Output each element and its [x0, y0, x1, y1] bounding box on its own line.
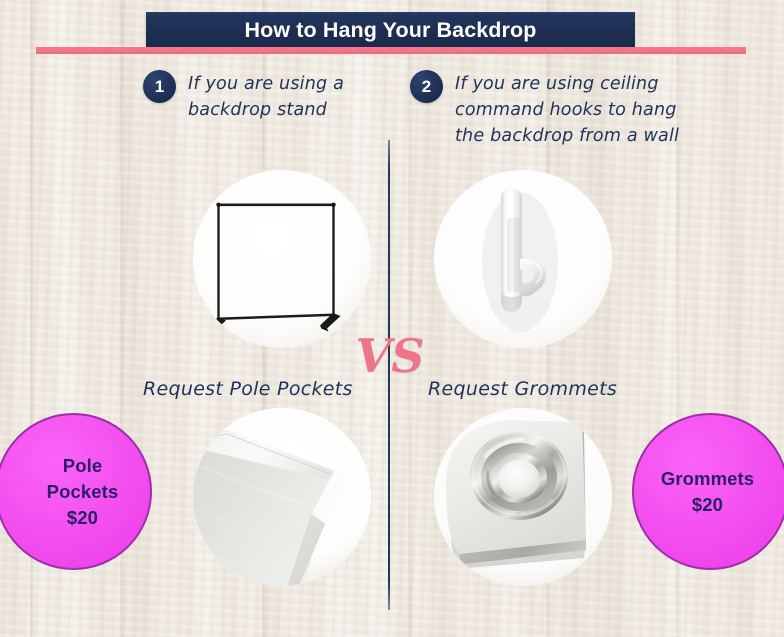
grommet-photo [434, 408, 612, 586]
step-1-heading: 1 If you are using a backdrop stand [143, 70, 344, 123]
request-pole-pockets-label: Request Pole Pockets [143, 378, 353, 400]
step-2-description: If you are using ceiling command hooks t… [455, 70, 679, 149]
grommet-icon [434, 408, 612, 586]
pole-pockets-price-bubble[interactable]: Pole Pockets $20 [0, 413, 152, 570]
request-grommets-label: Request Grommets [428, 378, 617, 400]
step-1-description: If you are using a backdrop stand [188, 70, 344, 123]
step-2-heading: 2 If you are using ceiling command hooks… [410, 70, 679, 149]
backdrop-stand-photo [193, 170, 371, 348]
pole-pockets-price-text: Pole Pockets $20 [29, 453, 119, 531]
pole-pocket-fabric-icon [193, 408, 371, 586]
grommets-price-text: Grommets $20 [661, 466, 760, 518]
page-title: How to Hang Your Backdrop [245, 18, 537, 43]
versus-label: VS [345, 333, 435, 379]
command-hook-icon [434, 170, 612, 348]
header-divider-rule [36, 47, 746, 54]
backdrop-stand-icon [193, 170, 371, 348]
title-banner: How to Hang Your Backdrop [146, 12, 635, 47]
grommets-price-bubble[interactable]: Grommets $20 [632, 413, 784, 570]
step-2-number-badge: 2 [410, 70, 443, 103]
step-1-number-badge: 1 [143, 70, 176, 103]
command-hook-photo [434, 170, 612, 348]
infographic-canvas: How to Hang Your Backdrop 1 If you are u… [0, 0, 784, 637]
pole-pocket-fabric-photo [193, 408, 371, 586]
